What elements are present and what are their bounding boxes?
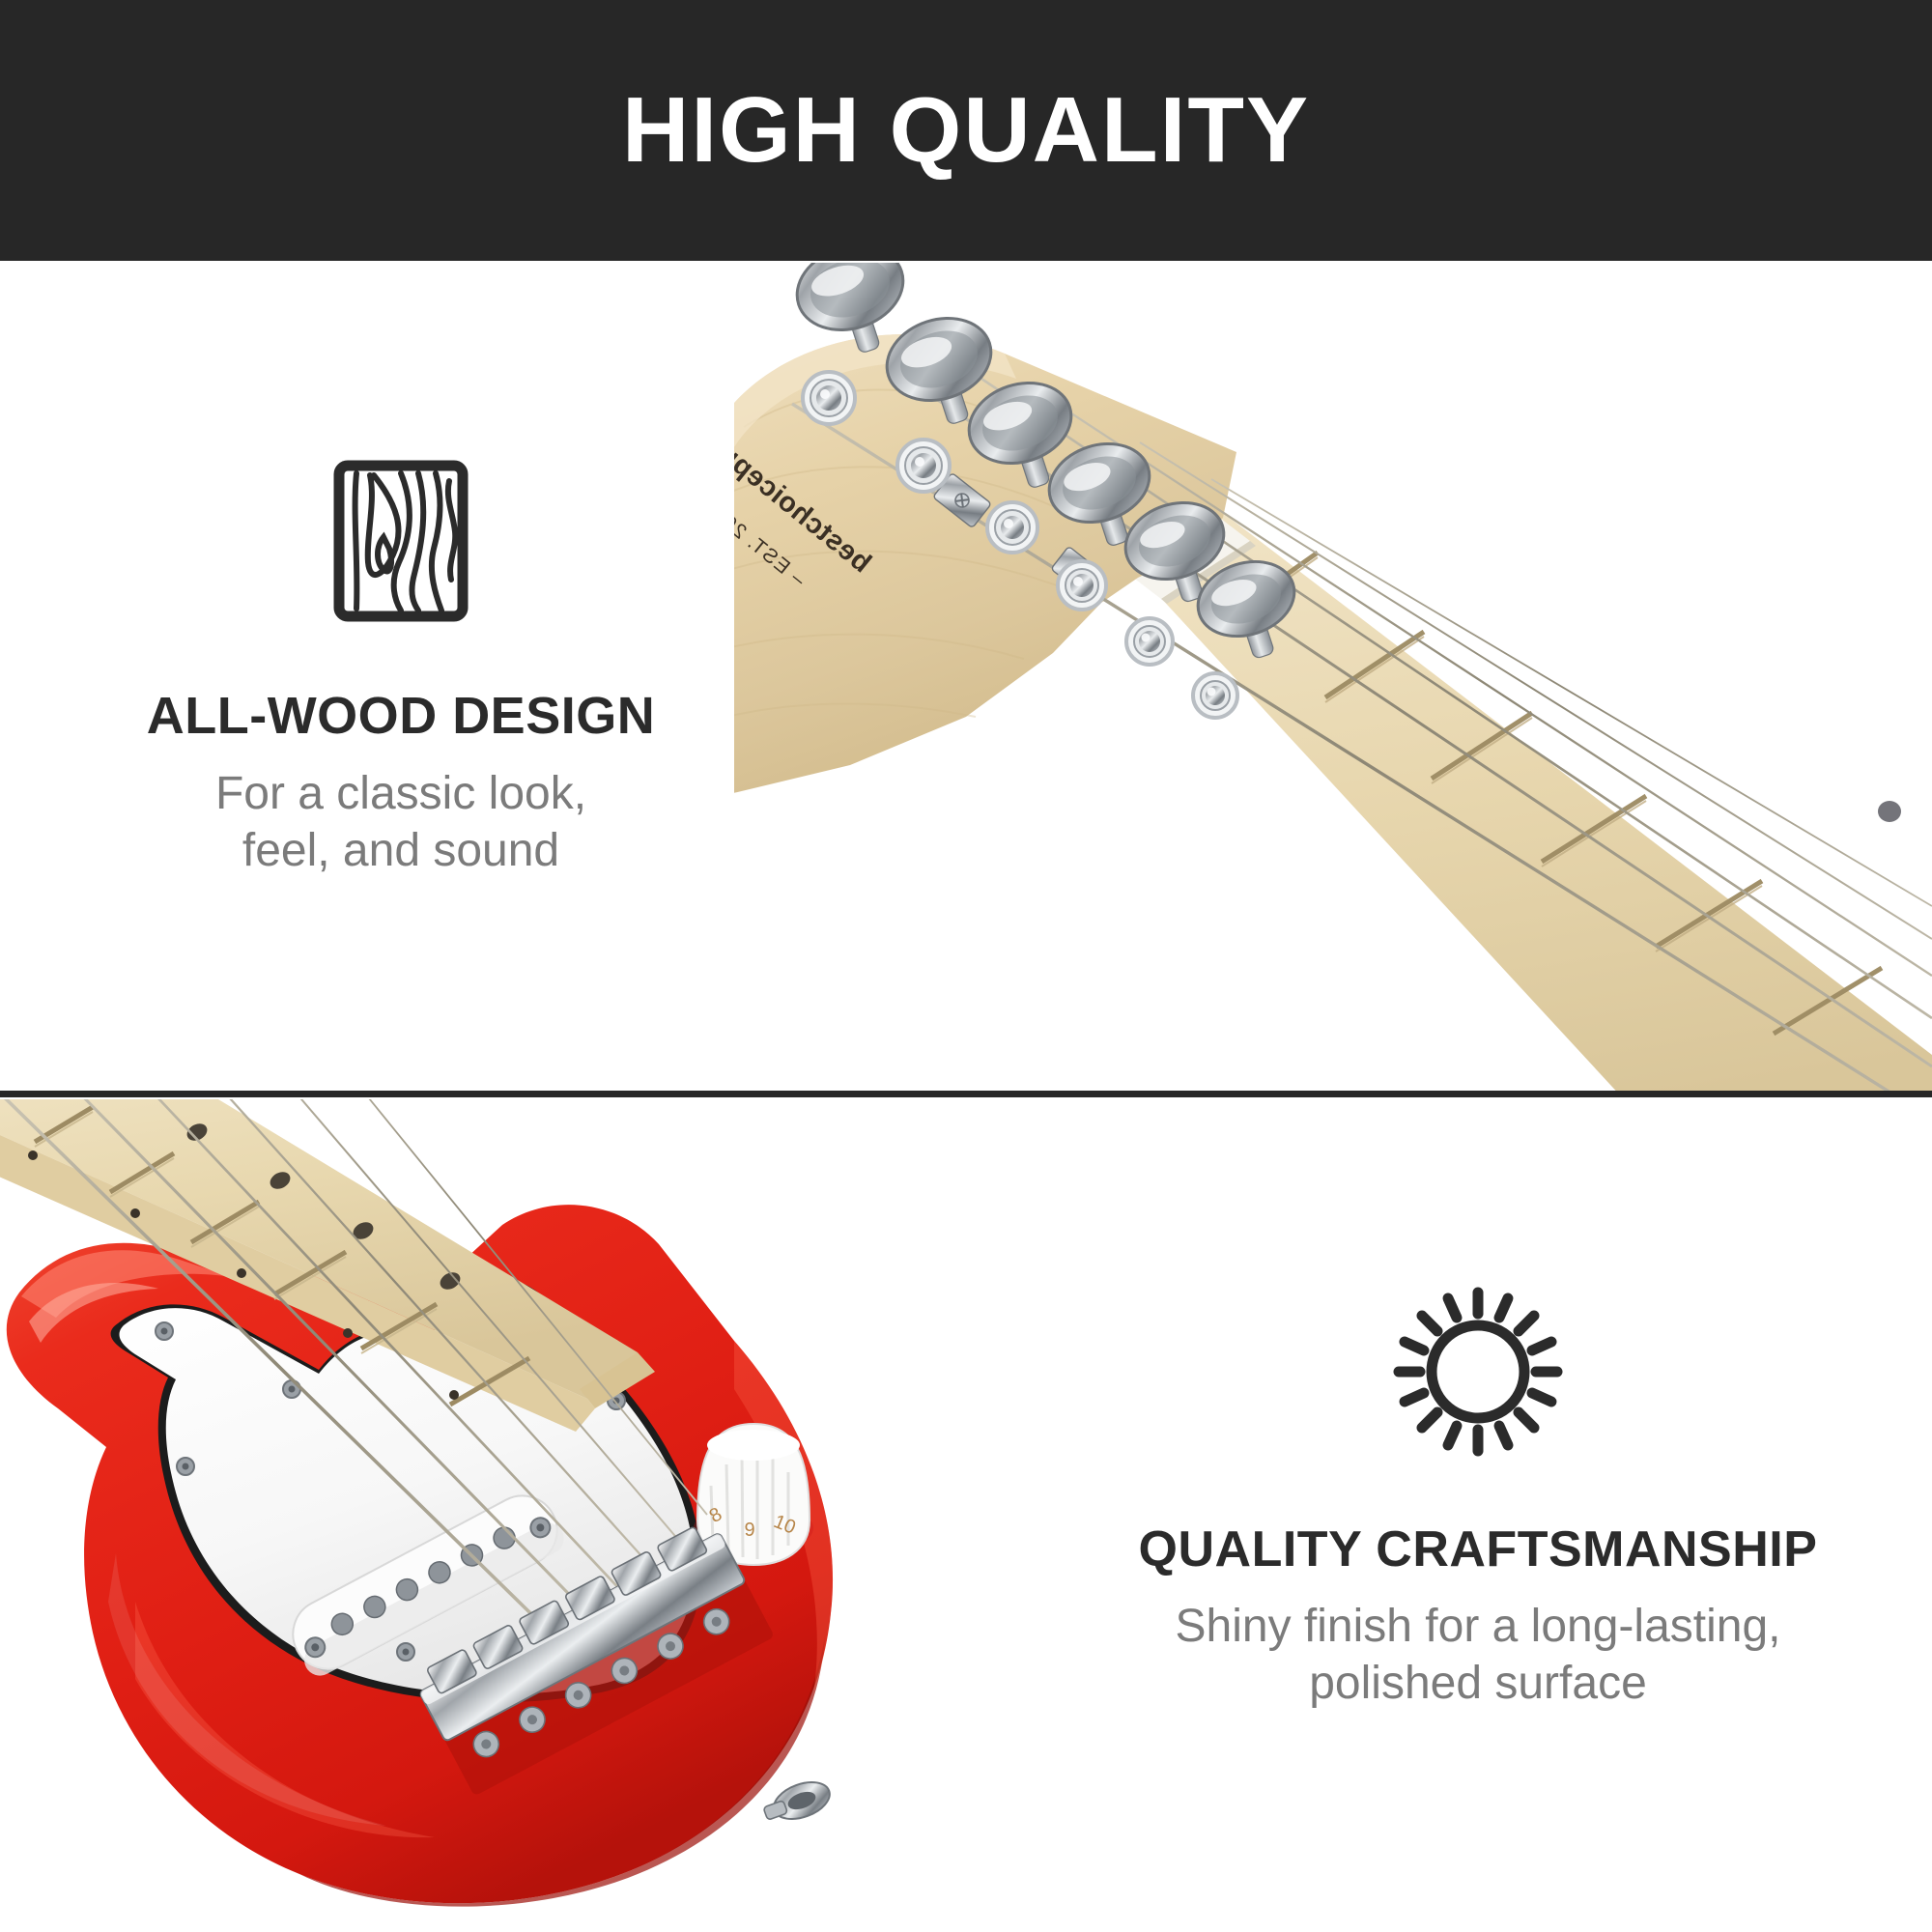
wood-grain-icon [314,454,488,628]
feature-subtitle-line-1: Shiny finish for a long-lasting, [1043,1599,1913,1656]
knob-label-9: 9 [744,1520,754,1541]
feature-title: QUALITY CRAFTSMANSHIP [1043,1522,1913,1577]
feature-subtitle: Shiny finish for a long-lasting, polishe… [1043,1599,1913,1712]
feature-subtitle-line-2: feel, and sound [68,823,734,880]
fret-inlay-dot [1878,801,1901,822]
feature-subtitle-line-2: polished surface [1043,1656,1913,1713]
section-divider [0,1091,1932,1097]
page-title: HIGH QUALITY [622,84,1310,177]
sun-icon [1391,1285,1565,1459]
feature-subtitle: For a classic look, feel, and sound [68,766,734,879]
feature-all-wood-design: ALL-WOOD DESIGN For a classic look, feel… [68,454,734,879]
product-feature-graphic: HIGH QUALITY [0,0,1932,1932]
headstock-photo: bestchoiceproducts – EST. 2002 – [734,263,1932,1091]
output-jack [760,1776,835,1830]
guitar-body-photo: 8 9 10 [0,1099,1024,1932]
feature-quality-craftsmanship: QUALITY CRAFTSMANSHIP Shiny finish for a… [1043,1285,1913,1712]
header-banner: HIGH QUALITY [0,0,1932,261]
feature-subtitle-line-1: For a classic look, [68,766,734,823]
feature-title: ALL-WOOD DESIGN [68,688,734,745]
